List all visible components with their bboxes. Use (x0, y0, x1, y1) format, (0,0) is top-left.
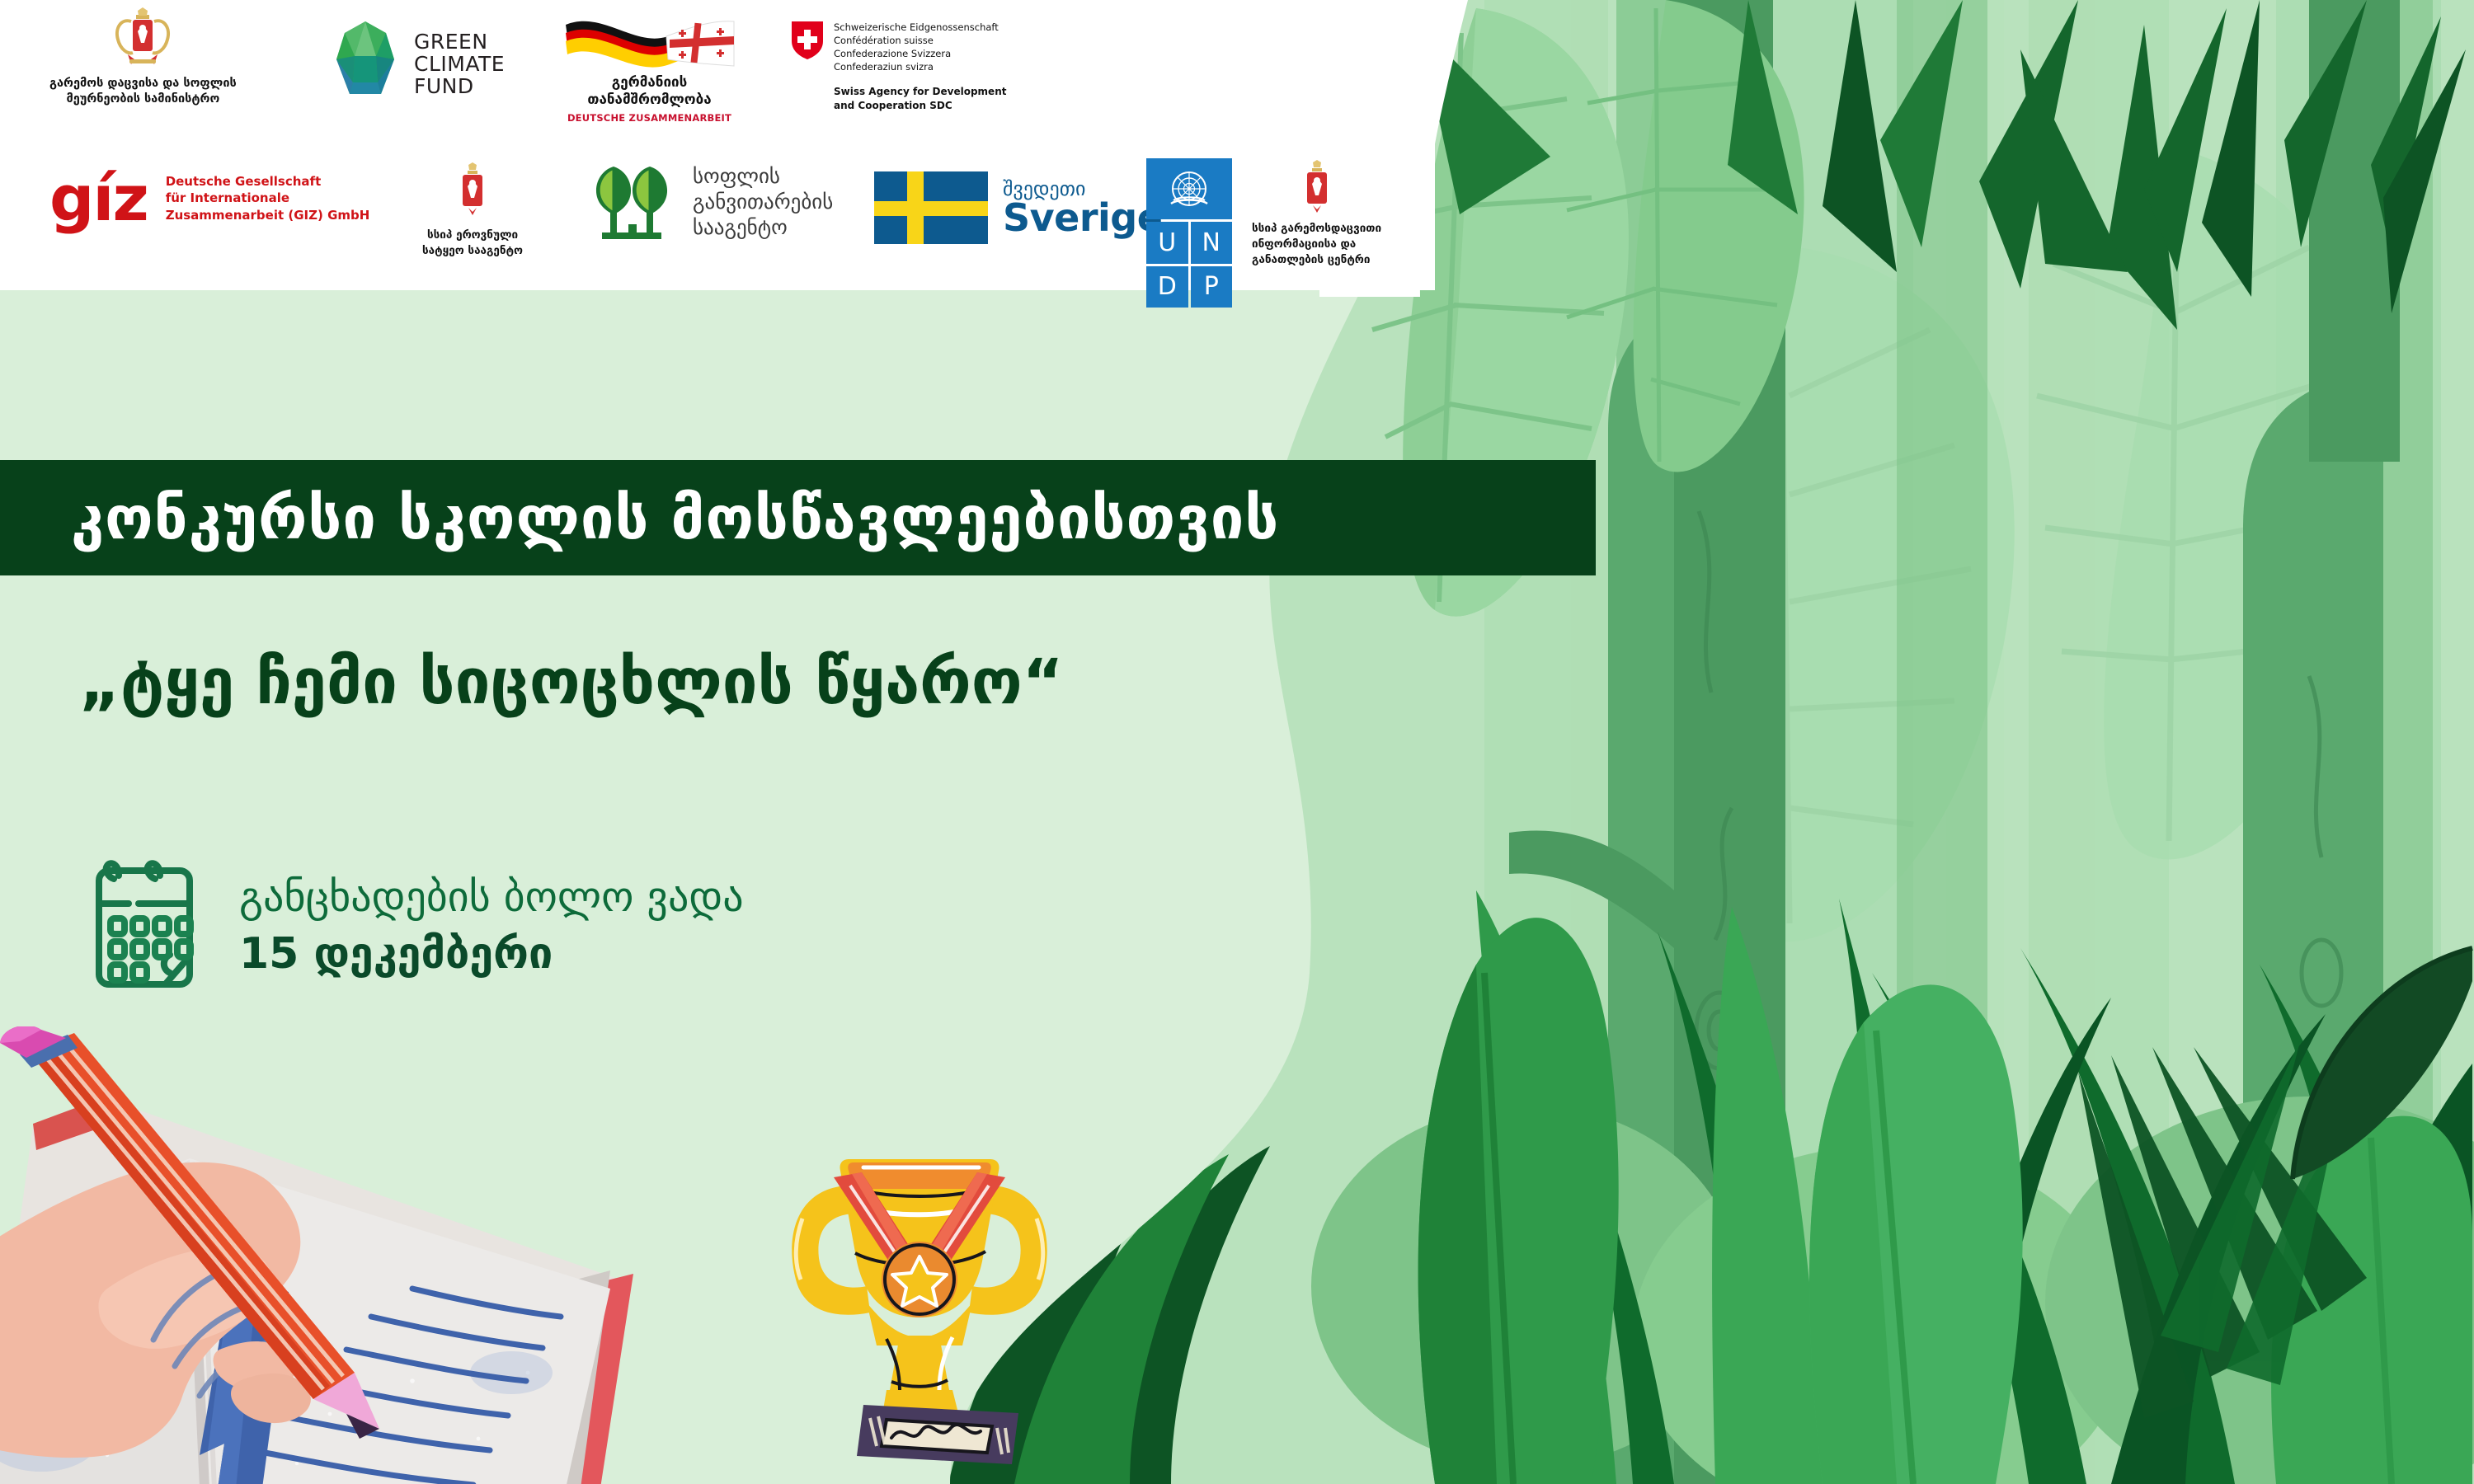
sdc-bold-line2: and Cooperation SDC (834, 99, 1006, 112)
logo-ministry-of-environment-georgia: გარემოს დაცვისა და სოფლის მეურნეობის სამ… (49, 7, 237, 107)
logo-environmental-information-centre: სსიპ გარემოსდაცვითი ინფორმაციისა და განა… (1252, 160, 1381, 268)
sweden-flag-icon (874, 171, 988, 244)
forestry-line1: სსიპ ეროვნული (422, 228, 523, 243)
logo-row-primary: გარემოს დაცვისა და სოფლის მეურნეობის სამ… (0, 0, 1435, 147)
logo-giz: gíz Deutsche Gesellschaft für Internatio… (49, 171, 369, 225)
calendar-icon (91, 857, 198, 993)
gcf-label-line2: CLIMATE (414, 53, 505, 75)
logo-undp: U N D P (1146, 158, 1232, 308)
undp-letter-d: D (1146, 266, 1188, 308)
swiss-shield-icon (792, 21, 823, 59)
logo-rural-development-agency: სოფლის განვითარების სააგენტო (587, 162, 833, 241)
deadline-date: 15 დეკემბერი (239, 929, 744, 979)
ministry-label-line1: გარემოს დაცვისა და სოფლის (49, 76, 237, 92)
german-coop-line1: გერმანიის (567, 74, 731, 92)
page-title: კონკურსი სკოლის მოსწავლეებისთვის (0, 483, 1279, 552)
logo-national-forestry-agency: სსიპ ეროვნული სატყეო სააგენტო (422, 162, 523, 259)
swiss-line1: Schweizerische Eidgenossenschaft (834, 21, 1006, 35)
eiec-line3: განათლების ცენტრი (1252, 252, 1381, 268)
gcf-gem-icon (330, 20, 401, 107)
georgia-coat-of-arms-icon (1298, 160, 1336, 216)
sdc-bold-line1: Swiss Agency for Development (834, 85, 1006, 98)
gold-trophy-illustration (746, 1138, 1093, 1484)
logo-german-cooperation: გერმანიის თანამშრომლობა DEUTSCHE ZUSAMME… (561, 12, 738, 124)
gcf-label-line3: FUND (414, 75, 505, 97)
undp-letter-p: P (1191, 266, 1233, 308)
german-georgian-flag-ribbon-icon (561, 12, 738, 69)
giz-line1: Deutsche Gesellschaft (166, 173, 370, 190)
rural-line1: სოფლის (693, 163, 833, 189)
giz-line2: für Internationale (166, 190, 370, 207)
sweden-line2: Sverige (1003, 199, 1162, 237)
ministry-label-line2: მეურნეობის სამინისტრო (49, 92, 237, 107)
logo-swiss-confederation-sdc: Schweizerische Eidgenossenschaft Confédé… (792, 21, 1006, 112)
logo-row-secondary: gíz Deutsche Gesellschaft für Internatio… (0, 157, 1435, 280)
hand-writing-in-notebook-illustration (0, 1026, 643, 1484)
german-coop-line3: DEUTSCHE ZUSAMMENARBEIT (567, 112, 731, 124)
headline-banner: კონკურსი სკოლის მოსწავლეებისთვის (0, 460, 1596, 575)
deadline-block: განცხადების ბოლო ვადა 15 დეკემბერი (91, 857, 744, 993)
logo-sweden: შვედეთი Sverige (874, 171, 1162, 244)
deadline-label: განცხადების ბოლო ვადა (239, 873, 744, 921)
giz-wordmark: gíz (49, 171, 148, 225)
georgia-coat-of-arms-icon (452, 162, 493, 223)
un-emblem-icon (1146, 158, 1232, 219)
georgia-coat-of-arms-icon (106, 7, 179, 69)
two-trees-house-icon (587, 162, 680, 241)
rural-line2: განვითარების (693, 189, 833, 214)
eiec-line2: ინფორმაციისა და (1252, 237, 1381, 252)
eiec-line1: სსიპ გარემოსდაცვითი (1252, 221, 1381, 237)
logo-green-climate-fund: GREEN CLIMATE FUND (330, 20, 505, 107)
german-coop-line2: თანამშრომლობა (567, 92, 731, 109)
swiss-line4: Confederaziun svizra (834, 61, 1006, 74)
contest-subtitle: „ტყე ჩემი სიცოცხლის წყარო“ (79, 645, 1064, 718)
undp-letter-n: N (1191, 222, 1233, 264)
swiss-line3: Confederazione Svizzera (834, 48, 1006, 61)
forestry-line2: სატყეო სააგენტო (422, 243, 523, 259)
giz-line3: Zusammenarbeit (GIZ) GmbH (166, 207, 370, 224)
swiss-line2: Confédération suisse (834, 35, 1006, 48)
rural-line3: სააგენტო (693, 214, 833, 240)
undp-letter-u: U (1146, 222, 1188, 264)
gcf-label-line1: GREEN (414, 31, 505, 53)
